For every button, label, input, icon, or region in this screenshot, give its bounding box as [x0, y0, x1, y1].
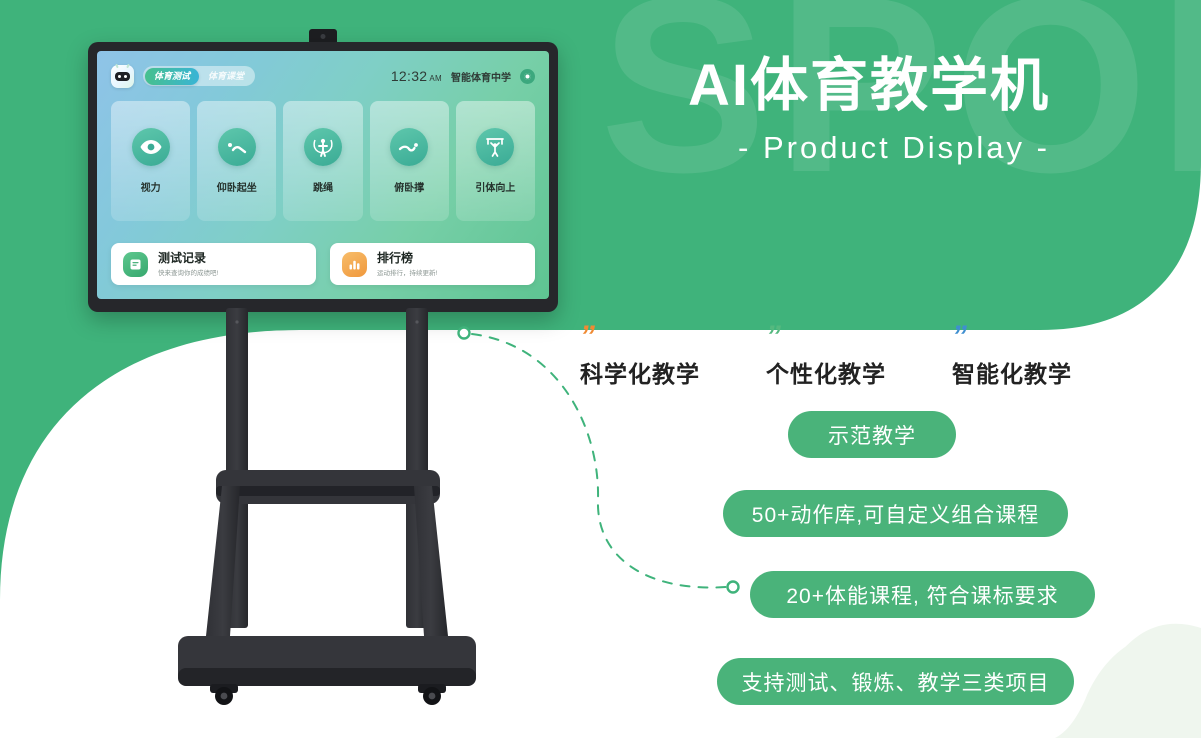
tab-sports-test[interactable]: 体育测试 [145, 68, 199, 85]
gear-icon[interactable] [520, 69, 535, 84]
situp-icon [218, 128, 256, 166]
activity-tiles: 视力 仰卧起坐 跳绳 [111, 101, 535, 221]
card-subtitle: 运动排行，持续更新! [377, 267, 437, 277]
tile-label: 俯卧撑 [394, 179, 424, 194]
tile-label: 视力 [141, 179, 161, 194]
school-name: 智能体育中学 [451, 69, 511, 84]
card-test-records[interactable]: 测试记录 快来查询你的成绩吧! [111, 243, 316, 285]
page-subtitle: - Product Display - [688, 130, 1100, 166]
clock-ampm: AM [429, 74, 442, 83]
feature-headings: ” 科学化教学 ” 个性化教学 ” 智能化教学 [580, 325, 1140, 389]
tile-vision[interactable]: 视力 [111, 101, 190, 221]
card-title: 排行榜 [377, 251, 437, 265]
mobile-stand [170, 300, 490, 720]
pill-fitness-courses[interactable]: 20+体能课程, 符合课标要求 [750, 571, 1095, 618]
pill-three-categories[interactable]: 支持测试、锻炼、教学三类项目 [717, 658, 1074, 705]
page-title: AI体育教学机 [688, 54, 1148, 118]
feature-scientific: ” 科学化教学 [580, 325, 766, 389]
tile-label: 跳绳 [313, 179, 333, 194]
quote-mark-icon: ” [952, 325, 1138, 347]
feature-label: 科学化教学 [580, 355, 766, 389]
pushup-icon [390, 128, 428, 166]
pullup-icon [476, 128, 514, 166]
quote-mark-icon: ” [766, 325, 952, 347]
pill-demo-teaching[interactable]: 示范教学 [788, 411, 956, 458]
tile-pushup[interactable]: 俯卧撑 [370, 101, 449, 221]
feature-label: 个性化教学 [766, 355, 952, 389]
record-icon [123, 252, 148, 277]
card-title: 测试记录 [158, 251, 218, 265]
tab-sports-class[interactable]: 体育课堂 [199, 68, 253, 85]
eye-icon [132, 128, 170, 166]
hero-block: AI体育教学机 - Product Display - [688, 54, 1148, 166]
clock: 12:32AM [391, 68, 442, 84]
interactive-display-device: 体育测试 体育课堂 12:32AM 智能体育中学 视力 [88, 42, 558, 312]
card-subtitle: 快来查询你的成绩吧! [158, 267, 218, 277]
quote-mark-icon: ” [580, 325, 766, 347]
pill-action-library[interactable]: 50+动作库,可自定义组合课程 [723, 490, 1068, 537]
status-bar: 体育测试 体育课堂 12:32AM 智能体育中学 [111, 63, 535, 89]
feature-label: 智能化教学 [952, 355, 1138, 389]
shortcut-cards: 测试记录 快来查询你的成绩吧! 排行榜 运动排行，持续更新! [111, 243, 535, 285]
tile-pullup[interactable]: 引体向上 [456, 101, 535, 221]
tile-label: 仰卧起坐 [217, 179, 257, 194]
robot-avatar-icon [111, 65, 134, 88]
camera-module-icon [309, 29, 337, 43]
card-leaderboard[interactable]: 排行榜 运动排行，持续更新! [330, 243, 535, 285]
tile-situp[interactable]: 仰卧起坐 [197, 101, 276, 221]
chart-bars-icon [342, 252, 367, 277]
clock-time: 12:32 [391, 68, 428, 84]
feature-intelligent: ” 智能化教学 [952, 325, 1138, 389]
mode-tabs[interactable]: 体育测试 体育课堂 [143, 66, 255, 86]
poster-canvas: SPORTS AI体育教学机 - Product Display - 体育测试 … [0, 0, 1201, 738]
status-bar-right: 12:32AM 智能体育中学 [391, 68, 535, 84]
tile-label: 引体向上 [475, 179, 515, 194]
feature-personalized: ” 个性化教学 [766, 325, 952, 389]
jumprope-icon [304, 128, 342, 166]
display-screen[interactable]: 体育测试 体育课堂 12:32AM 智能体育中学 视力 [97, 51, 549, 299]
tile-jumprope[interactable]: 跳绳 [283, 101, 362, 221]
